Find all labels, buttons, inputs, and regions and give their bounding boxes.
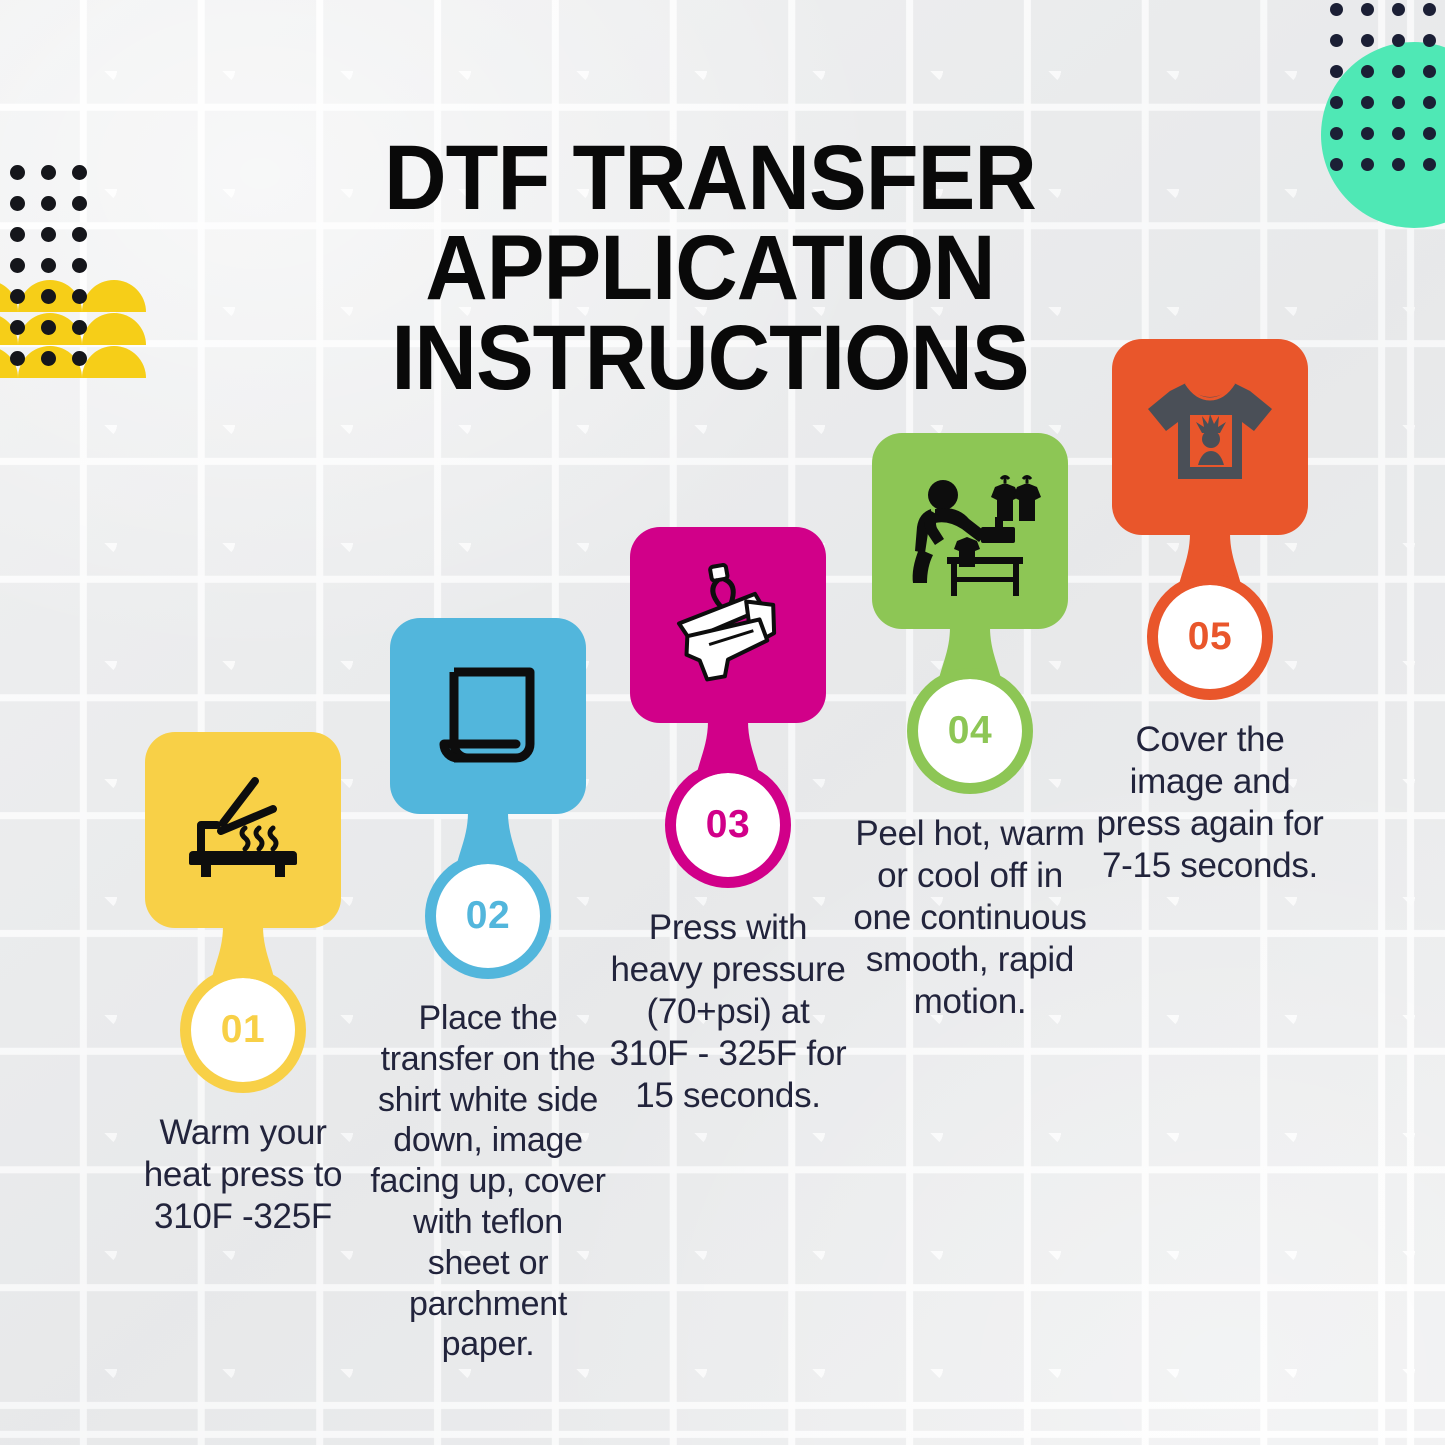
step-1-number-badge[interactable]: 01 xyxy=(191,978,295,1082)
step-2-caption: Place the transfer on the shirt white si… xyxy=(363,998,613,1365)
step-3-number: 03 xyxy=(706,803,750,847)
step-5-number-badge[interactable]: 05 xyxy=(1158,585,1262,689)
step-item-4[interactable]: 04 Peel hot, warm or cool off in one con… xyxy=(845,433,1095,1023)
step-2-card[interactable] xyxy=(390,618,586,814)
step-item-3[interactable]: 03 Press with heavy pressure (70+psi) at… xyxy=(603,527,853,1117)
step-5-number: 05 xyxy=(1188,615,1232,659)
step-item-2[interactable]: 02 Place the transfer on the shirt white… xyxy=(363,618,613,1365)
step-3-card[interactable] xyxy=(630,527,826,723)
step-4-caption: Peel hot, warm or cool off in one contin… xyxy=(845,813,1095,1023)
step-5-card[interactable] xyxy=(1112,339,1308,535)
step-4-number-badge[interactable]: 04 xyxy=(918,679,1022,783)
step-1-caption: Warm your heat press to 310F -325F xyxy=(118,1112,368,1238)
poster-canvas: DTF TRANSFER APPLICATION INSTRUCTIONS xyxy=(0,0,1445,1445)
step-4-number: 04 xyxy=(948,709,992,753)
step-item-5[interactable]: 05 Cover the image and press again for 7… xyxy=(1085,339,1335,887)
step-item-1[interactable]: 01 Warm your heat press to 310F -325F xyxy=(118,732,368,1238)
step-5-caption: Cover the image and press again for 7-15… xyxy=(1085,719,1335,887)
transfer-sheet-icon xyxy=(430,658,546,774)
heat-press-machine-icon xyxy=(664,563,792,687)
heat-press-open-icon xyxy=(181,775,305,885)
step-2-number: 02 xyxy=(466,894,510,938)
steps-container: 01 Warm your heat press to 310F -325F xyxy=(0,0,1445,1445)
printed-tshirt-icon xyxy=(1140,373,1280,501)
worker-pressing-shirt-icon xyxy=(895,465,1045,597)
step-1-number: 01 xyxy=(221,1008,265,1052)
step-1-card[interactable] xyxy=(145,732,341,928)
step-3-caption: Press with heavy pressure (70+psi) at 31… xyxy=(603,907,853,1117)
step-4-card[interactable] xyxy=(872,433,1068,629)
step-3-number-badge[interactable]: 03 xyxy=(676,773,780,877)
step-2-number-badge[interactable]: 02 xyxy=(436,864,540,968)
